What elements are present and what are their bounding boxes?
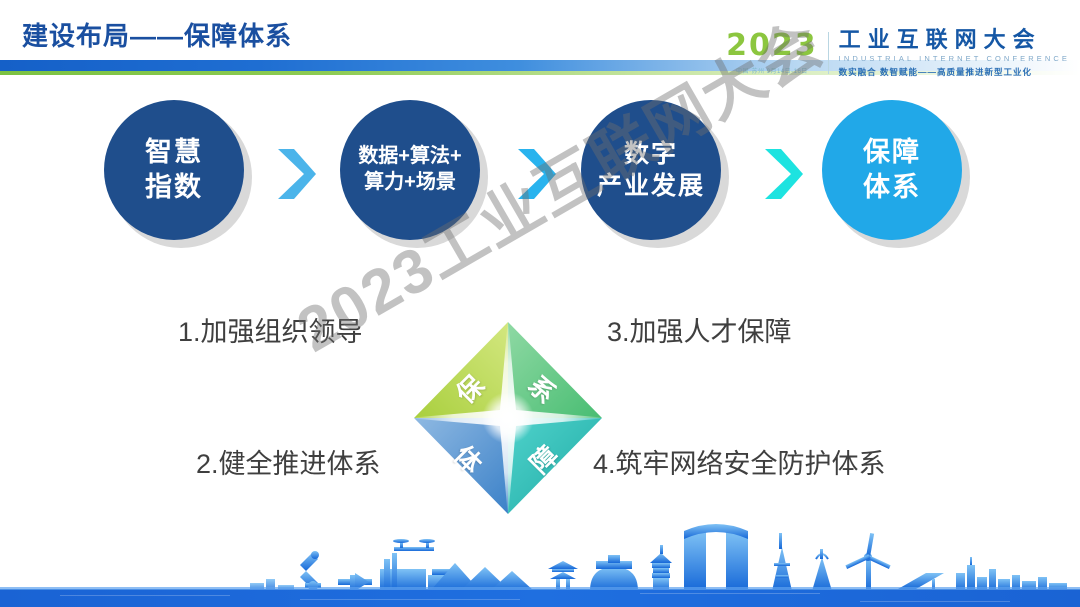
- logo-year: 2023: [726, 31, 818, 61]
- logo-name-en: INDUSTRIAL INTERNET CONFERENCE: [839, 54, 1070, 63]
- flow-arrow-3-icon: [760, 146, 806, 202]
- flow-node-2-label: 数据+算法+算力+场景: [358, 144, 461, 195]
- logo-date: 中国·苏州 9月14日-16日: [736, 66, 808, 75]
- flow-diagram: 智慧指数 数据+算法+算力+场景 数字产业发展 保障: [0, 100, 1080, 255]
- flow-node-4-label: 保障体系: [863, 135, 921, 204]
- page-title: 建设布局——保障体系: [22, 16, 292, 53]
- flow-node-1: 智慧指数: [104, 100, 252, 248]
- measure-item-3: 3.加强人才保障: [607, 310, 792, 349]
- logo-divider: [828, 32, 829, 74]
- flow-node-3-circle: 数字产业发展: [581, 100, 721, 240]
- conference-logo: 2023 中国·苏州 9月14日-16日 工业互联网大会 INDUSTRIAL …: [726, 26, 1070, 80]
- skyline-svg: [0, 517, 1080, 607]
- diamond-graphic: 保 系 体 障: [408, 318, 608, 518]
- flow-node-2: 数据+算法+算力+场景: [340, 100, 488, 248]
- measure-item-4: 4.筑牢网络安全防护体系: [593, 442, 886, 481]
- diamond-svg: [408, 318, 608, 518]
- flow-arrow-2-icon: [513, 146, 559, 202]
- flow-node-2-circle: 数据+算法+算力+场景: [340, 100, 480, 240]
- flow-node-4-circle: 保障体系: [822, 100, 962, 240]
- skyline-decoration: [0, 517, 1080, 607]
- measure-item-1: 1.加强组织领导: [178, 310, 363, 349]
- flow-node-1-circle: 智慧指数: [104, 100, 244, 240]
- flow-node-3: 数字产业发展: [581, 100, 729, 248]
- slide-canvas: 建设布局——保障体系 2023 中国·苏州 9月14日-16日 工业互联网大会 …: [0, 0, 1080, 607]
- logo-year-block: 2023 中国·苏州 9月14日-16日: [726, 31, 828, 75]
- logo-name-cn: 工业互联网大会: [839, 28, 1070, 51]
- flow-arrow-1-icon: [273, 146, 319, 202]
- measure-item-2: 2.健全推进体系: [196, 442, 381, 481]
- logo-name-block: 工业互联网大会 INDUSTRIAL INTERNET CONFERENCE 数…: [839, 28, 1070, 77]
- flow-node-1-label: 智慧指数: [145, 135, 203, 204]
- flow-node-3-label: 数字产业发展: [597, 138, 705, 202]
- logo-tagline: 数实融合 数智赋能——高质量推进新型工业化: [839, 66, 1070, 78]
- flow-node-4: 保障体系: [822, 100, 970, 248]
